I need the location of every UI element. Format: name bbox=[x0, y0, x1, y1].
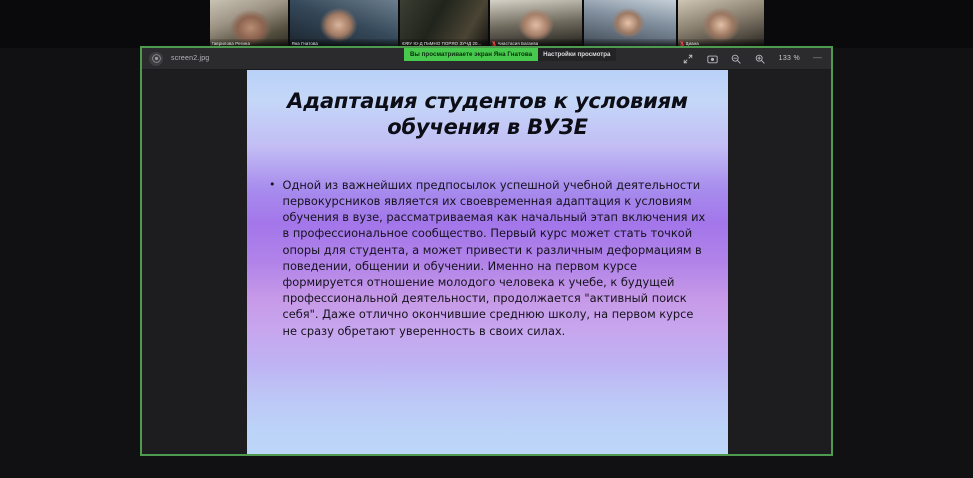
zoom-out-icon[interactable] bbox=[731, 53, 742, 64]
participant-filmstrip: Гаврилова Регина Яна Гнатова ЮФУ Ю-Д ПиМ… bbox=[0, 0, 973, 48]
fullscreen-icon[interactable] bbox=[683, 53, 694, 64]
participant-tile[interactable]: Гаврилова Регина bbox=[210, 0, 288, 48]
participant-tile[interactable] bbox=[584, 0, 676, 48]
screen-share-window: screen2.jpg Вы просматриваете экран Яна … bbox=[140, 46, 833, 456]
zoom-level-label[interactable]: 133 % bbox=[779, 55, 800, 62]
participant-tile[interactable]: Яна Гнатова bbox=[290, 0, 398, 48]
zoom-in-icon[interactable] bbox=[755, 53, 766, 64]
toolbar-left-group: screen2.jpg bbox=[142, 52, 209, 66]
view-settings-button[interactable]: Настройки просмотра bbox=[538, 48, 615, 61]
collapse-toolbar-button[interactable]: — bbox=[813, 53, 822, 65]
shared-file-name: screen2.jpg bbox=[171, 55, 209, 62]
conference-app-window: Гаврилова Регина Яна Гнатова ЮФУ Ю-Д ПиМ… bbox=[0, 0, 973, 478]
toolbar-center-group: Вы просматриваете экран Яна Гнатова Наст… bbox=[404, 48, 616, 61]
screen-share-viewport[interactable]: Адаптация студентов к условиям обучения … bbox=[142, 70, 831, 454]
screen-share-toolbar: screen2.jpg Вы просматриваете экран Яна … bbox=[142, 48, 831, 70]
camera-icon bbox=[149, 52, 163, 66]
participant-tile[interactable]: Диана bbox=[678, 0, 764, 48]
toolbar-right-group: 133 % — bbox=[683, 53, 831, 65]
participant-tile[interactable]: ЮФУ Ю-Д ПиМНО ПОРЯО ЗУЧД 20... bbox=[400, 0, 488, 48]
slide-title: Адаптация студентов к условиям обучения … bbox=[261, 88, 714, 141]
slide-body-text: Одной из важнейших предпосылок успешной … bbox=[283, 177, 707, 339]
bullet-marker: • bbox=[265, 177, 276, 339]
slide-body: • Одной из важнейших предпосылок успешно… bbox=[265, 177, 706, 339]
sharing-notice-banner: Вы просматриваете экран Яна Гнатова bbox=[404, 48, 538, 61]
screenshot-icon[interactable] bbox=[707, 53, 718, 64]
participant-tile[interactable]: Анастасия Багаева bbox=[490, 0, 582, 48]
presentation-slide: Адаптация студентов к условиям обучения … bbox=[247, 70, 728, 454]
